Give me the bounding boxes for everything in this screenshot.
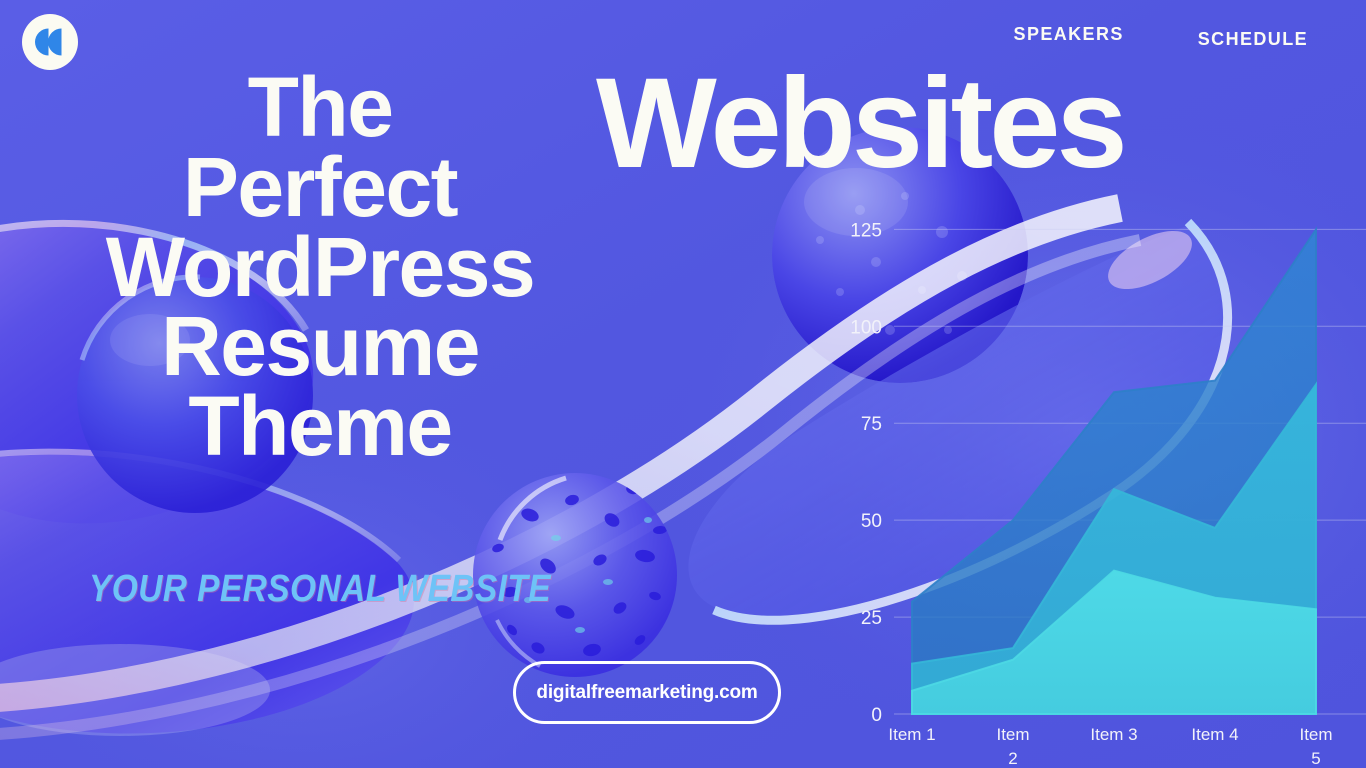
website-url-pill[interactable]: digitalfreemarketing.com bbox=[513, 661, 781, 724]
chart-x-tick-label: Item bbox=[996, 725, 1029, 744]
website-url-text: digitalfreemarketing.com bbox=[536, 682, 757, 704]
chart-x-tick-label: 2 bbox=[1008, 749, 1017, 768]
chart-series-areas bbox=[912, 229, 1316, 714]
poster-canvas: SPEAKERS SCHEDULE Websites The Perfect W… bbox=[0, 0, 1366, 768]
chart-y-tick-label: 100 bbox=[850, 317, 882, 338]
nav-link-speakers[interactable]: SPEAKERS bbox=[1014, 24, 1124, 50]
chart-y-tick-label: 125 bbox=[850, 220, 882, 241]
top-navigation: SPEAKERS SCHEDULE bbox=[0, 0, 1366, 70]
chart-x-tick-label: Item 4 bbox=[1191, 725, 1238, 744]
hero-subheading: YOUR PERSONAL WEBSITE bbox=[38, 568, 601, 611]
chart-y-tick-label: 0 bbox=[871, 705, 882, 726]
chart-x-tick-label: Item 1 bbox=[888, 725, 935, 744]
chart-y-tick-label: 25 bbox=[861, 608, 882, 629]
headline-line-3: WordPress bbox=[0, 228, 640, 308]
brand-logo[interactable] bbox=[22, 14, 78, 70]
headline-line-5: Theme bbox=[0, 387, 640, 467]
area-chart: 0255075100125 Item 1Item2Item 3Item 4Ite… bbox=[780, 180, 1366, 768]
area-chart-svg: 0255075100125 Item 1Item2Item 3Item 4Ite… bbox=[780, 180, 1366, 768]
rewind-circle-logo-icon bbox=[22, 14, 78, 70]
chart-x-tick-label: Item bbox=[1299, 725, 1332, 744]
chart-x-tick-label: Item 3 bbox=[1090, 725, 1137, 744]
chart-y-axis-labels: 0255075100125 bbox=[850, 220, 882, 726]
nav-links: SPEAKERS SCHEDULE bbox=[1014, 14, 1308, 50]
nav-link-schedule[interactable]: SCHEDULE bbox=[1198, 29, 1308, 50]
chart-x-tick-label: 5 bbox=[1311, 749, 1320, 768]
headline-line-1: The bbox=[0, 68, 640, 148]
headline-line-4: Resume bbox=[0, 307, 640, 387]
hero-big-word: Websites bbox=[596, 60, 1124, 188]
headline-line-2: Perfect bbox=[0, 148, 640, 228]
chart-y-tick-label: 75 bbox=[861, 414, 882, 435]
page-title: The Perfect WordPress Resume Theme bbox=[0, 68, 640, 467]
chart-y-tick-label: 50 bbox=[861, 511, 882, 532]
chart-x-axis-labels: Item 1Item2Item 3Item 4Item5 bbox=[888, 725, 1332, 768]
